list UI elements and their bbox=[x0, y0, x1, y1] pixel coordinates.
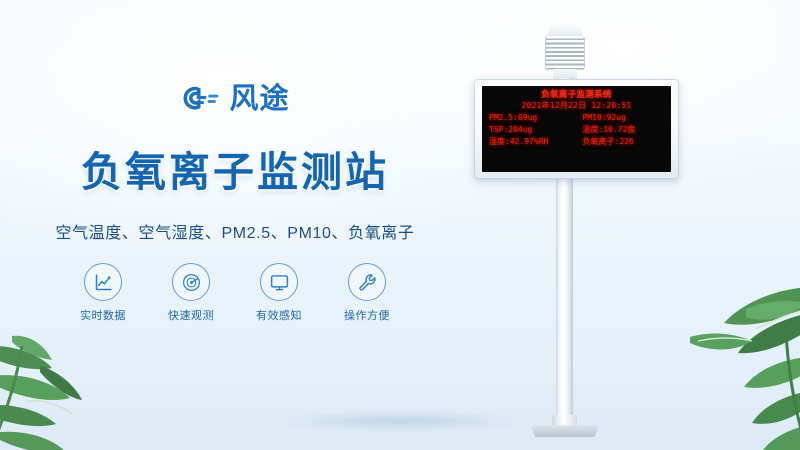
led-reading-row: 湿度:42.97%RH 负氧离子:226 bbox=[487, 136, 666, 147]
brand-lockup: 风途 bbox=[0, 78, 470, 120]
feature-label: 操作方便 bbox=[336, 307, 398, 323]
led-title: 负氧离子监测系统 bbox=[487, 90, 666, 100]
feature-item-fast-observation: 快速观测 bbox=[160, 263, 222, 323]
feature-item-effective-sensing: 有效感知 bbox=[248, 263, 310, 323]
led-display-panel: 负氧离子监测系统 2021年12月22日 12:20:51 PM2.5:69ug… bbox=[474, 79, 679, 179]
led-reading-temperature: 温度:10.72度 bbox=[577, 124, 667, 135]
ground-shadow bbox=[270, 410, 530, 432]
radiation-shield-sensor-icon bbox=[542, 22, 588, 84]
promo-banner: 风途 负氧离子监测站 空气温度、空气湿度、PM2.5、PM10、负氧离子 实时数… bbox=[0, 0, 800, 450]
brand-name: 风途 bbox=[229, 84, 289, 114]
monitoring-station: 负氧离子监测系统 2021年12月22日 12:20:51 PM2.5:69ug… bbox=[508, 22, 648, 442]
feature-label: 快速观测 bbox=[160, 307, 222, 323]
green-leaf-plant-icon bbox=[660, 279, 800, 450]
hero-subtitle: 空气温度、空气湿度、PM2.5、PM10、负氧离子 bbox=[0, 219, 470, 243]
sensor-louver-plates bbox=[545, 36, 585, 70]
fengtu-g-logo-icon bbox=[180, 84, 220, 114]
line-chart-icon bbox=[84, 263, 122, 301]
feature-list: 实时数据 快速观测 bbox=[0, 263, 470, 323]
radar-scan-icon bbox=[172, 263, 210, 301]
page-title: 负氧离子监测站 bbox=[0, 138, 470, 198]
led-screen: 负氧离子监测系统 2021年12月22日 12:20:51 PM2.5:69ug… bbox=[482, 86, 671, 172]
hero-text-panel: 风途 负氧离子监测站 空气温度、空气湿度、PM2.5、PM10、负氧离子 实时数… bbox=[0, 78, 470, 323]
feature-label: 实时数据 bbox=[72, 307, 134, 323]
led-reading-row: TSP:204ug 温度:10.72度 bbox=[487, 124, 666, 135]
led-reading-pm10: PM10:92ug bbox=[577, 112, 667, 123]
feature-label: 有效感知 bbox=[248, 307, 310, 323]
led-reading-tsp: TSP:204ug bbox=[487, 124, 577, 135]
green-leaf-plant-icon bbox=[0, 306, 132, 450]
feature-item-realtime-data: 实时数据 bbox=[72, 263, 134, 323]
feature-item-easy-operation: 操作方便 bbox=[336, 263, 398, 323]
monitor-screen-icon bbox=[260, 263, 298, 301]
led-reading-negative-oxygen-ions: 负氧离子:226 bbox=[577, 136, 667, 147]
led-reading-row: PM2.5:69ug PM10:92ug bbox=[487, 112, 666, 123]
led-datetime: 2021年12月22日 12:20:51 bbox=[487, 101, 666, 111]
wrench-icon bbox=[348, 263, 386, 301]
led-reading-pm25: PM2.5:69ug bbox=[487, 112, 577, 123]
led-reading-humidity: 湿度:42.97%RH bbox=[487, 136, 577, 147]
